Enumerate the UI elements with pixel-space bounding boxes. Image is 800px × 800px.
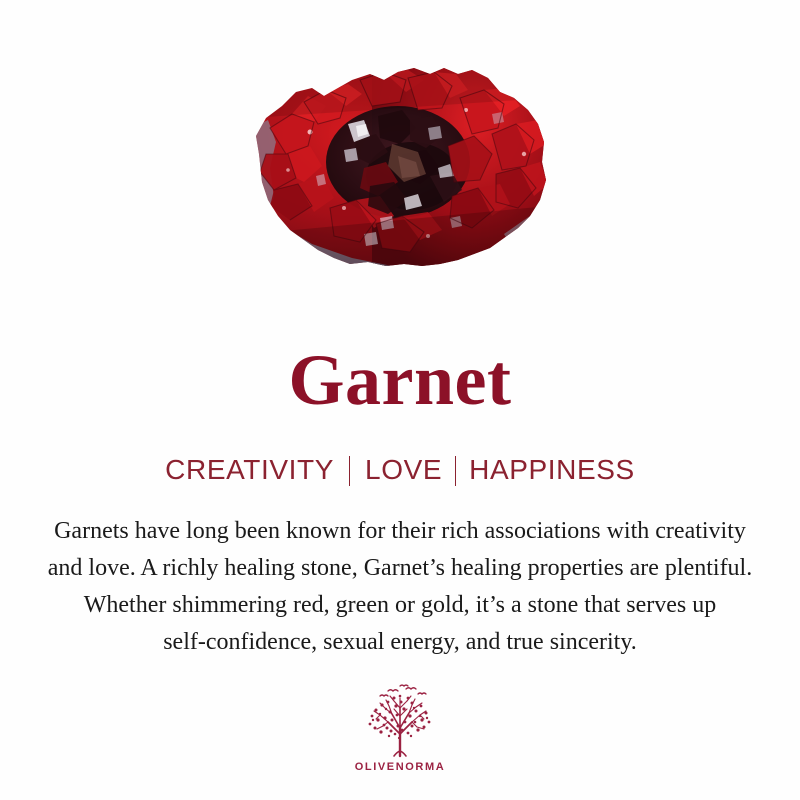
keyword-happiness: HAPPINESS — [469, 456, 635, 484]
keyword-love: LOVE — [365, 456, 442, 484]
keyword-separator-icon — [349, 456, 350, 486]
garnet-crystal-cluster-image — [252, 58, 548, 273]
description-line: Garnets have long been known for their r… — [20, 513, 780, 550]
keyword-separator-icon — [455, 456, 456, 486]
description-line: Whether shimmering red, green or gold, i… — [20, 587, 780, 624]
description-line: self-confidence, sexual energy, and true… — [20, 624, 780, 661]
hero-image-container — [0, 0, 800, 300]
brand-logo: OLIVENORMA — [345, 682, 455, 773]
description-paragraph: Garnets have long been known for their r… — [20, 513, 780, 661]
keyword-list: CREATIVITY LOVE HAPPINESS — [165, 455, 635, 485]
keyword-creativity: CREATIVITY — [165, 456, 334, 484]
garnet-info-card: Garnet CREATIVITY LOVE HAPPINESS Garnets… — [0, 0, 800, 800]
tree-with-birds-icon — [356, 682, 444, 758]
page-title: Garnet — [289, 344, 512, 416]
brand-wordmark: OLIVENORMA — [355, 761, 446, 773]
description-line: and love. A richly healing stone, Garnet… — [20, 550, 780, 587]
